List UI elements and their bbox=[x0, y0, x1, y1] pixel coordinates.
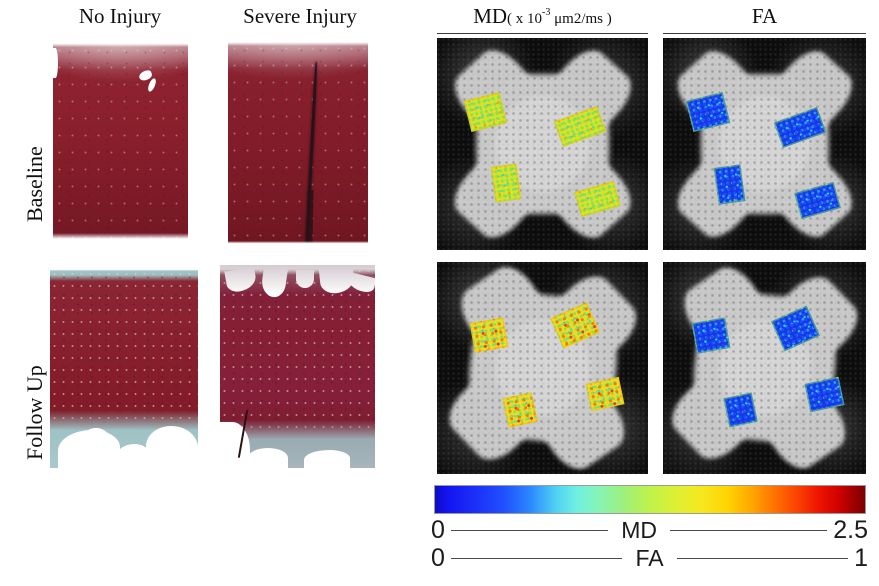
figure-root: No Injury Severe Injury MD( x 10-3 μm2/m… bbox=[0, 0, 879, 586]
colorbar-scale-md-max: 2.5 bbox=[833, 518, 868, 543]
colorbar bbox=[434, 485, 866, 514]
histology-image bbox=[220, 265, 375, 468]
histology-severe-injury-baseline-panel bbox=[228, 40, 368, 245]
roi-border bbox=[723, 392, 758, 427]
column-header-md-unit-prefix: ( x 10 bbox=[507, 11, 542, 27]
colorbar-scale-md: 0 MD 2.5 bbox=[431, 518, 868, 543]
histology-no-injury-baseline-panel bbox=[53, 42, 188, 242]
cartilage-fissure-wide-base bbox=[307, 190, 314, 245]
roi-border bbox=[491, 163, 522, 202]
colorbar-scale-fa-left-rule bbox=[451, 558, 623, 560]
column-header-severe-injury: Severe Injury bbox=[215, 4, 385, 29]
roi-patch-lower-left bbox=[502, 392, 538, 428]
subchondral-bone-marrow-space bbox=[84, 428, 108, 444]
specimen-left-edge-irregularity bbox=[53, 48, 58, 78]
subchondral-bone-marrow-space bbox=[304, 450, 350, 468]
mri-noise-texture bbox=[663, 38, 866, 250]
colorbar-scale-md-name: MD bbox=[614, 519, 664, 542]
subchondral-bone-marrow-space bbox=[116, 444, 150, 468]
specimen-top-edge-irregularity bbox=[53, 42, 188, 47]
column-header-md-label: MD bbox=[473, 4, 507, 28]
chondrocyte-speckle-texture bbox=[228, 40, 368, 245]
mri-noise-texture bbox=[663, 262, 866, 474]
roi-patch-upper-left bbox=[692, 317, 731, 353]
colorbar-scale-md-min: 0 bbox=[431, 518, 445, 543]
column-header-fa-label: FA bbox=[752, 4, 777, 28]
roi-patch-lower-left bbox=[714, 164, 746, 204]
column-header-md: MD( x 10-3 μm2/ms ) bbox=[437, 4, 648, 29]
column-header-severe-injury-label: Severe Injury bbox=[243, 4, 357, 28]
mri-noise-texture bbox=[437, 38, 648, 250]
mri-fa-baseline-panel bbox=[663, 38, 866, 250]
row-label-baseline-text: Baseline bbox=[22, 146, 47, 222]
histology-image bbox=[228, 40, 368, 245]
specimen-top-edge-irregularity bbox=[50, 268, 198, 271]
histology-image bbox=[50, 268, 198, 468]
specimen-top-edge-irregularity bbox=[228, 40, 368, 46]
column-header-no-injury: No Injury bbox=[40, 4, 200, 29]
column-header-md-rule bbox=[437, 33, 648, 34]
column-header-fa-rule bbox=[663, 33, 866, 34]
subchondral-bone-marrow-space bbox=[146, 426, 198, 468]
histology-severe-injury-followup-panel bbox=[220, 265, 375, 468]
colorbar-scale-fa-name: FA bbox=[628, 547, 670, 570]
colorbar-scale-fa-right-rule bbox=[677, 558, 849, 560]
mri-fa-followup-panel bbox=[663, 262, 866, 474]
colorbar-scale-md-right-rule bbox=[670, 530, 827, 532]
row-label-follow-up: Follow Up bbox=[22, 365, 48, 460]
histology-no-injury-followup-panel bbox=[50, 268, 198, 468]
colorbar-scale-fa-min: 0 bbox=[431, 546, 445, 571]
roi-patch-lower-left bbox=[491, 163, 522, 202]
colorbar-scale-md-left-rule bbox=[451, 530, 608, 532]
mri-noise-texture bbox=[437, 262, 648, 474]
roi-patch-upper-left bbox=[470, 317, 509, 352]
mri-md-baseline-panel bbox=[437, 38, 648, 250]
roi-border bbox=[470, 317, 509, 352]
histology-image bbox=[53, 42, 188, 242]
row-label-baseline: Baseline bbox=[22, 146, 48, 222]
roi-border bbox=[692, 317, 731, 353]
specimen-bottom-edge-irregularity bbox=[228, 241, 368, 245]
colorbar-scale-fa-max: 1 bbox=[854, 546, 868, 571]
row-label-follow-up-text: Follow Up bbox=[22, 365, 47, 460]
degenerated-surface-tint bbox=[220, 265, 375, 295]
roi-border bbox=[714, 164, 746, 204]
roi-patch-lower-left bbox=[723, 392, 758, 427]
chondrocyte-speckle-texture bbox=[53, 42, 188, 242]
column-header-fa: FA bbox=[663, 4, 866, 29]
column-header-no-injury-label: No Injury bbox=[79, 4, 161, 28]
mri-md-followup-panel bbox=[437, 262, 648, 474]
specimen-bottom-edge-irregularity bbox=[53, 233, 188, 242]
column-header-md-unit-suffix: μm2/ms ) bbox=[550, 11, 611, 27]
subchondral-bone-marrow-space bbox=[248, 448, 288, 468]
colorbar-scale-fa: 0 FA 1 bbox=[431, 546, 868, 571]
roi-border bbox=[502, 392, 538, 428]
